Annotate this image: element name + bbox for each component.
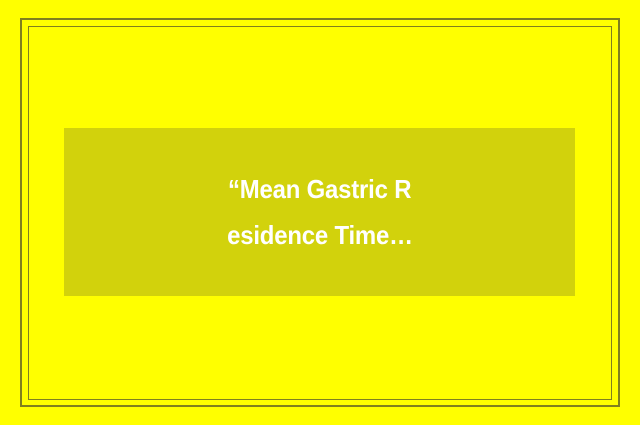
caption-line-2: esidence Time… [227, 212, 413, 258]
caption-line-1: “Mean Gastric R [228, 166, 411, 212]
caption-panel: “Mean Gastric R esidence Time… [64, 128, 575, 296]
slide-canvas: “Mean Gastric R esidence Time… [0, 0, 640, 425]
